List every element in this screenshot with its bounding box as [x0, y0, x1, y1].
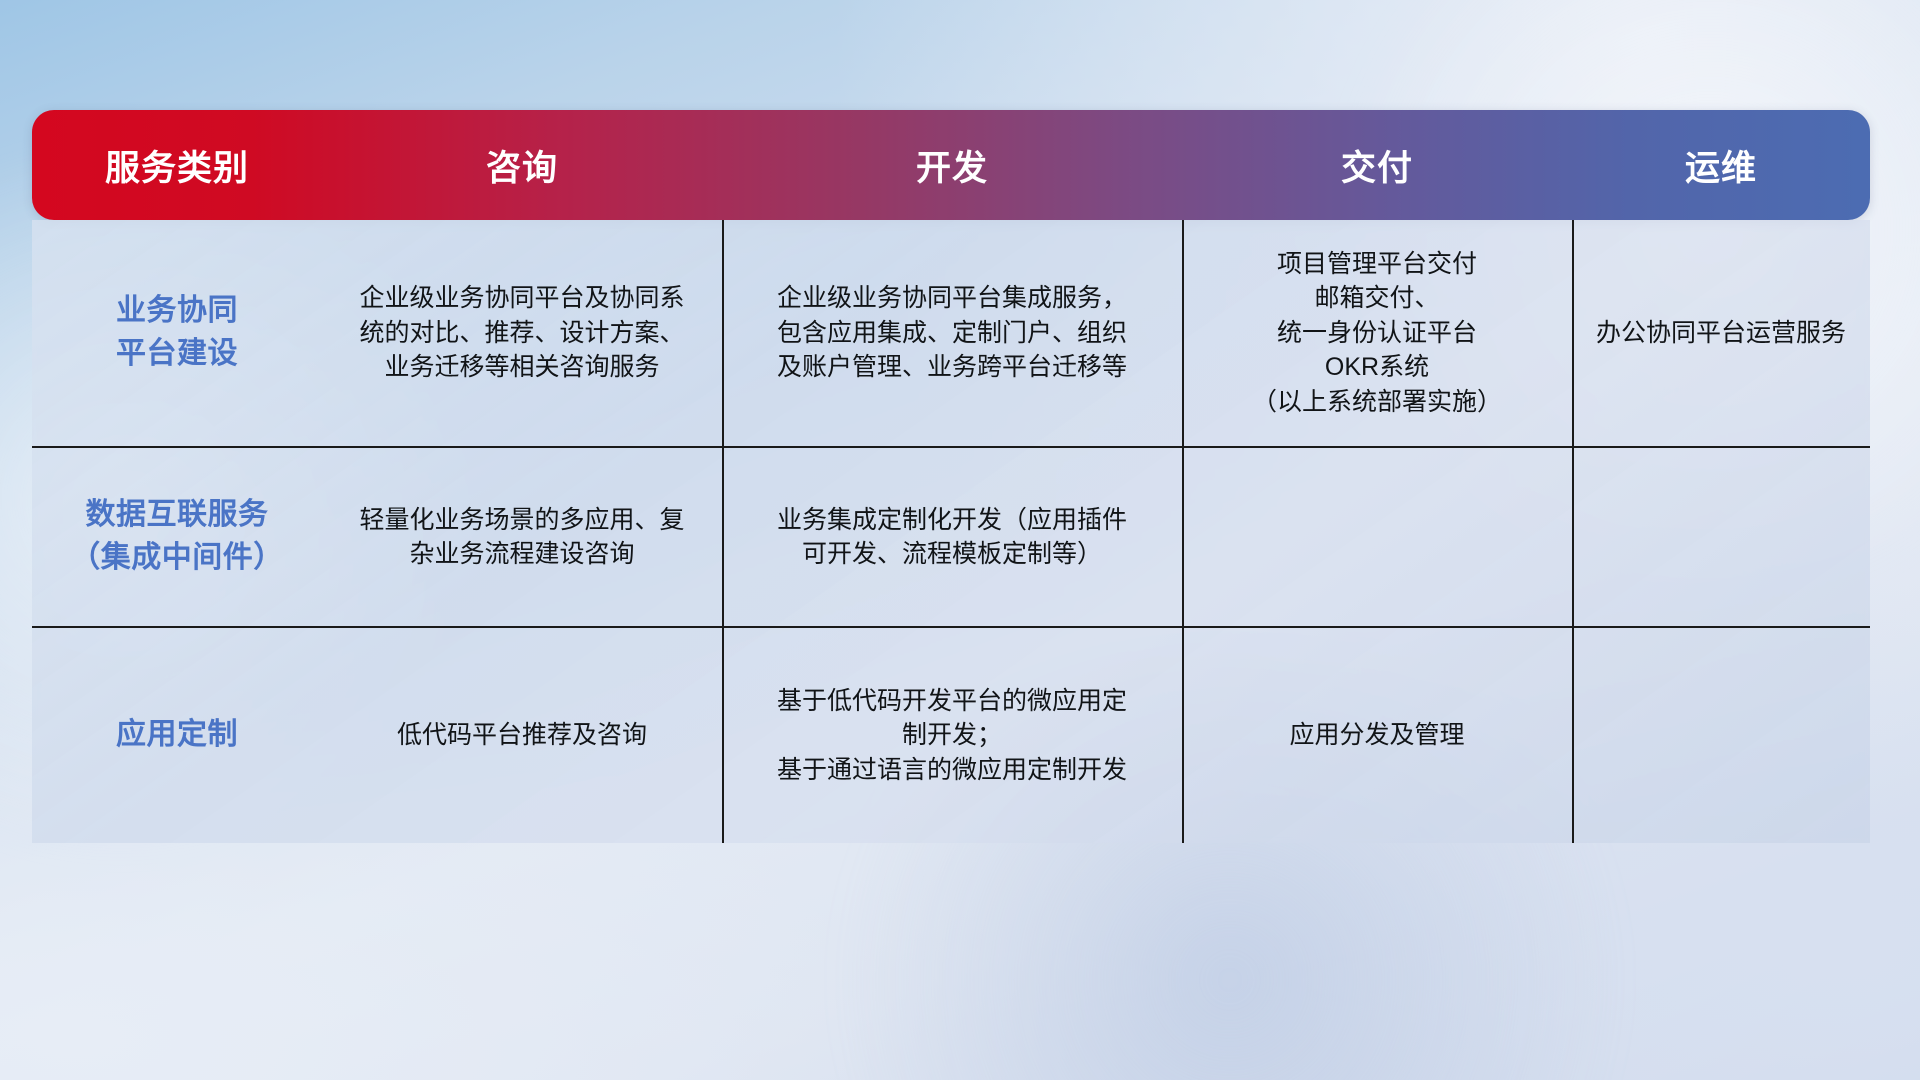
column-header-operations: 运维 [1572, 140, 1870, 191]
service-matrix-table: 服务类别 咨询 开发 交付 运维 业务协同 平台建设 企业级业务协同平台及协同系… [32, 110, 1870, 843]
cell-delivery: 应用分发及管理 [1182, 628, 1572, 843]
table-header-row: 服务类别 咨询 开发 交付 运维 [32, 110, 1870, 220]
table-row: 应用定制 低代码平台推荐及咨询 基于低代码开发平台的微应用定 制开发； 基于通过… [32, 628, 1870, 843]
cell-consulting: 低代码平台推荐及咨询 [322, 628, 722, 843]
cell-development: 基于低代码开发平台的微应用定 制开发； 基于通过语言的微应用定制开发 [722, 628, 1182, 843]
cell-consulting: 企业级业务协同平台及协同系 统的对比、推荐、设计方案、 业务迁移等相关咨询服务 [322, 220, 722, 446]
column-header-development: 开发 [722, 140, 1182, 191]
cell-operations: 办公协同平台运营服务 [1572, 220, 1870, 446]
column-header-category: 服务类别 [32, 140, 322, 191]
cell-development: 业务集成定制化开发（应用插件 可开发、流程模板定制等） [722, 448, 1182, 626]
table-body: 业务协同 平台建设 企业级业务协同平台及协同系 统的对比、推荐、设计方案、 业务… [32, 220, 1870, 843]
category-label: 业务协同 平台建设 [116, 290, 238, 375]
category-label: 数据互联服务 （集成中间件） [70, 494, 284, 579]
row-category-cell: 数据互联服务 （集成中间件） [32, 448, 322, 626]
table-row: 业务协同 平台建设 企业级业务协同平台及协同系 统的对比、推荐、设计方案、 业务… [32, 220, 1870, 448]
cell-delivery [1182, 448, 1572, 626]
table-row: 数据互联服务 （集成中间件） 轻量化业务场景的多应用、复 杂业务流程建设咨询 业… [32, 448, 1870, 628]
row-category-cell: 应用定制 [32, 628, 322, 843]
column-header-consulting: 咨询 [322, 140, 722, 191]
category-label: 应用定制 [116, 714, 238, 757]
cell-operations [1572, 448, 1870, 626]
cell-development: 企业级业务协同平台集成服务， 包含应用集成、定制门户、组织 及账户管理、业务跨平… [722, 220, 1182, 446]
row-category-cell: 业务协同 平台建设 [32, 220, 322, 446]
cell-delivery: 项目管理平台交付 邮箱交付、 统一身份认证平台 OKR系统 （以上系统部署实施） [1182, 220, 1572, 446]
cell-consulting: 轻量化业务场景的多应用、复 杂业务流程建设咨询 [322, 448, 722, 626]
cell-operations [1572, 628, 1870, 843]
column-header-delivery: 交付 [1182, 140, 1572, 191]
